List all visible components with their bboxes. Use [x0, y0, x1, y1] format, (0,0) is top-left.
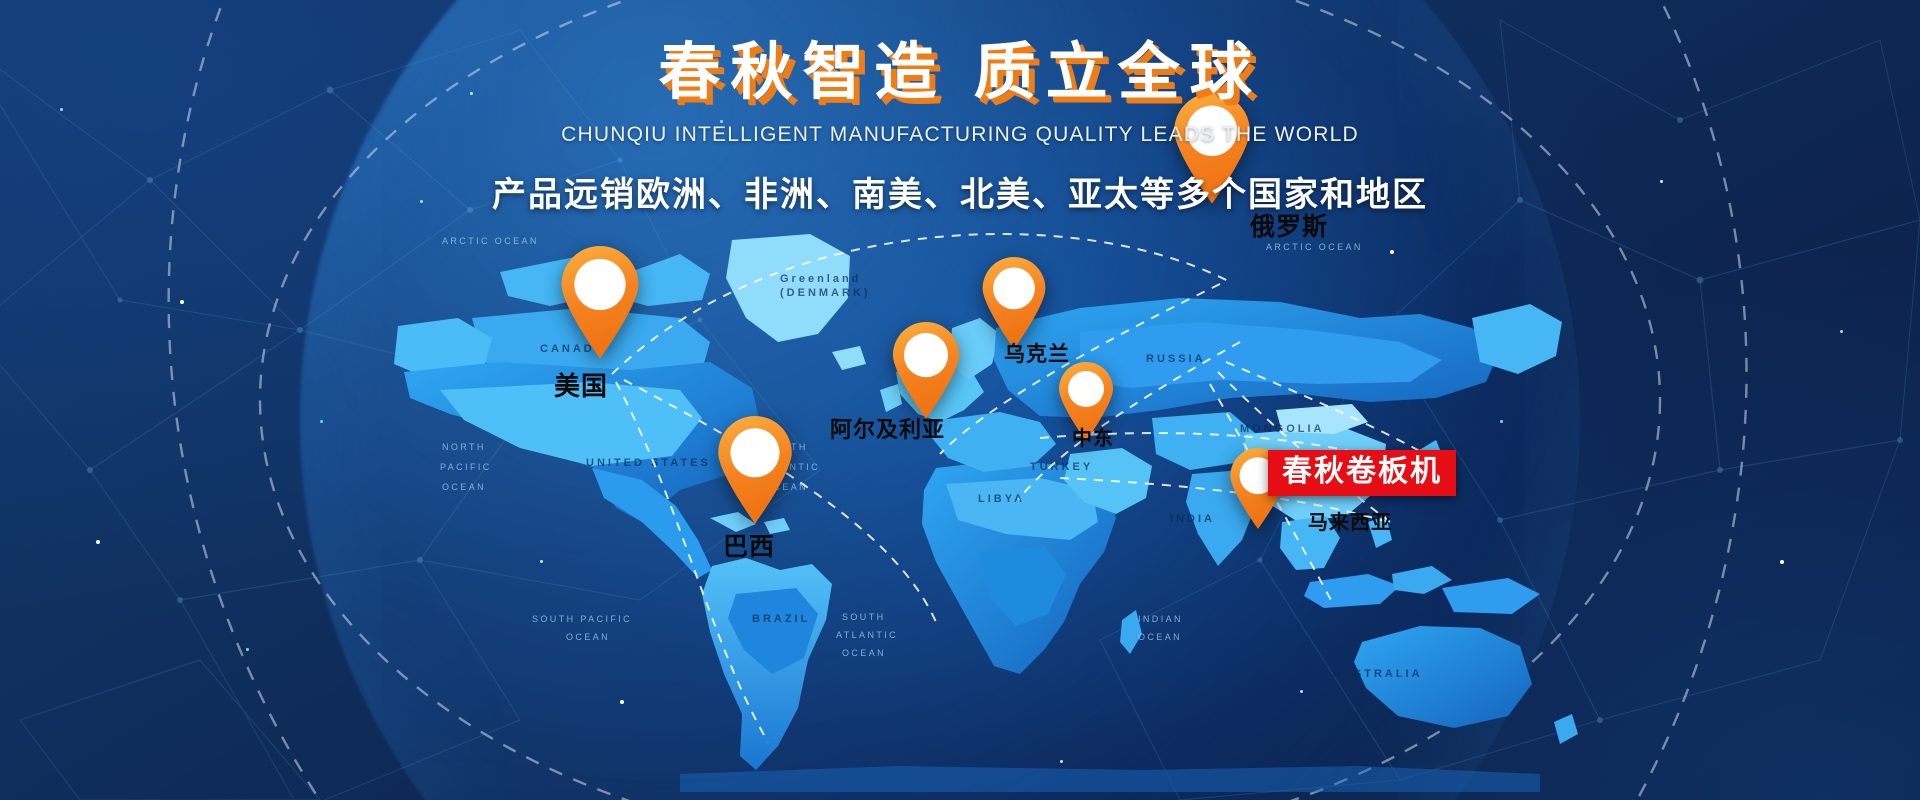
- page-subtitle: 产品远销欧洲、非洲、南美、北美、亚太等多个国家和地区: [0, 167, 1920, 216]
- map-ocean-label: PACIFIC: [440, 462, 492, 472]
- map-ocean-label: OCEAN: [442, 482, 486, 492]
- map-ocean-label: ATLANTIC: [836, 630, 898, 640]
- map-marker-ukraine[interactable]: 乌克兰: [979, 257, 1049, 350]
- map-country-label: (DENMARK): [780, 287, 871, 299]
- map-ocean-label: INDIAN: [1138, 614, 1183, 624]
- map-ocean-label: OCEAN: [842, 648, 886, 658]
- map-country-label: UNITED STATES: [586, 457, 711, 469]
- map-ocean-label: OCEAN: [1138, 632, 1182, 642]
- map-ocean-label: NORTH: [442, 442, 486, 452]
- map-marker-label-malaysia: 马来西亚: [1308, 506, 1392, 535]
- map-ocean-label: OCEAN: [566, 632, 610, 642]
- map-country-label: INDIA: [1170, 513, 1215, 525]
- map-marker-label-brazil: 巴西: [723, 527, 775, 563]
- map-ocean-label: ARCTIC OCEAN: [1266, 242, 1363, 252]
- map-ocean-label: ARCTIC OCEAN: [442, 236, 539, 246]
- location-pin-icon: [889, 322, 963, 420]
- map-marker-middleeast[interactable]: 中东: [1056, 362, 1116, 442]
- headline-block: 春秋智造 质立全球 CHUNQIU INTELLIGENT MANUFACTUR…: [0, 40, 1920, 216]
- map-ocean-label: SOUTH PACIFIC: [532, 614, 632, 624]
- map-marker-algeria[interactable]: 阿尔及利亚: [889, 322, 963, 420]
- page-title-english: CHUNQIU INTELLIGENT MANUFACTURING QUALIT…: [0, 123, 1920, 147]
- map-marker-label-algeria: 阿尔及利亚: [830, 412, 945, 444]
- map-country-label: BRAZIL: [752, 613, 810, 625]
- map-country-label: AUSTRALIA: [1332, 668, 1423, 680]
- map-country-label: Greenland: [780, 273, 861, 285]
- location-pin-icon: [557, 246, 643, 360]
- map-country-label: TURKEY: [1030, 461, 1093, 473]
- location-pin-icon: [979, 257, 1049, 350]
- page-title: 春秋智造 质立全球: [0, 40, 1920, 105]
- product-badge[interactable]: 春秋卷板机: [1268, 450, 1456, 496]
- map-ocean-label: SOUTH: [842, 612, 886, 622]
- banner-root: 春秋智造 质立全球 CHUNQIU INTELLIGENT MANUFACTUR…: [0, 0, 1920, 800]
- map-marker-usa[interactable]: 美国: [557, 246, 643, 360]
- map-marker-label-middleeast: 中东: [1072, 422, 1114, 451]
- map-country-label: RUSSIA: [1146, 353, 1206, 365]
- location-pin-icon: [714, 416, 796, 525]
- map-marker-label-usa: 美国: [554, 366, 608, 403]
- map-marker-brazil[interactable]: 巴西: [714, 416, 796, 525]
